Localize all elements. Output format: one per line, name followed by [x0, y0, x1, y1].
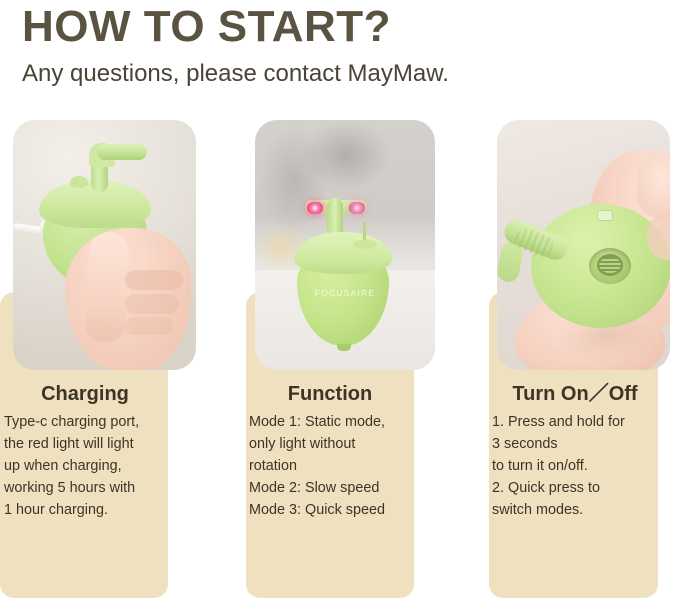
card-turn-on-off-text: Turn On／Off 1. Press and hold for 3 seco…: [492, 382, 658, 521]
page-title: HOW TO START?: [22, 2, 391, 52]
card-charging-body: Type-c charging port, the red light will…: [4, 412, 166, 521]
card-turn-on-off-body: 1. Press and hold for 3 seconds to turn …: [492, 412, 658, 521]
led-light-right: [349, 202, 365, 214]
card-charging-heading: Charging: [4, 382, 166, 406]
card-turn-on-off-heading: Turn On／Off: [492, 382, 658, 406]
device-brand-logo: FOCUSAIRE: [255, 288, 435, 298]
led-light-left: [307, 202, 323, 214]
thumb: [84, 231, 130, 343]
device-pin-base: [353, 240, 377, 249]
device-nozzle-horizontal: [97, 144, 147, 160]
device-vent-slots: [599, 257, 621, 273]
card-charging-text: Charging Type-c charging port, the red l…: [4, 382, 166, 521]
charging-photo: [13, 120, 196, 370]
finger: [125, 317, 173, 335]
device-knob: [70, 176, 88, 188]
card-function-text: Function Mode 1: Static mode, only light…: [249, 382, 411, 521]
card-function-heading: Function: [249, 382, 411, 406]
card-function-body: Mode 1: Static mode, only light without …: [249, 412, 411, 521]
background-blur: [301, 120, 391, 190]
power-button: [597, 210, 613, 221]
device-foot: [337, 344, 351, 351]
function-photo: FOCUSAIRE: [255, 120, 435, 370]
finger: [637, 156, 670, 218]
page-root: HOW TO START? Any questions, please cont…: [0, 0, 679, 609]
finger: [125, 270, 183, 290]
finger: [125, 294, 179, 314]
page-subtitle: Any questions, please contact MayMaw.: [22, 60, 449, 88]
turn-on-off-photo: [497, 120, 670, 370]
